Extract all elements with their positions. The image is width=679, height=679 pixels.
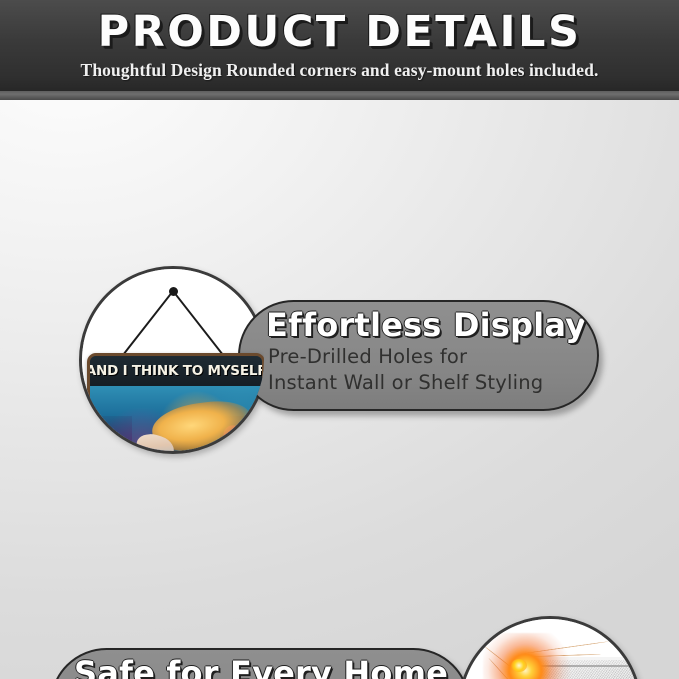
product-details-infographic: PRODUCT DETAILS Thoughtful Design Rounde… [0, 0, 679, 679]
tin-sign-illustration: AND I THINK TO MYSELF [82, 269, 264, 451]
header-subtitle: Thoughtful Design Rounded corners and ea… [0, 60, 679, 81]
header-divider [0, 91, 679, 100]
tin-sign-banner: AND I THINK TO MYSELF [90, 356, 262, 388]
tin-sign-underwater-scene [90, 386, 262, 454]
sign-hook-icon [169, 287, 178, 296]
feature-image-hanging-tin-sign: AND I THINK TO MYSELF [79, 266, 267, 454]
coral-left-decoration [90, 416, 132, 454]
tin-sign-plate: AND I THINK TO MYSELF [87, 353, 265, 454]
header-banner: PRODUCT DETAILS Thoughtful Design Rounde… [0, 0, 679, 91]
tin-sign-text: AND I THINK TO MYSELF [87, 363, 265, 379]
feature-row-effortless-display: AND I THINK TO MYSELF Effortless Display… [0, 130, 679, 315]
feature-row-thoughtful-to-gift: Thoughtful to Gift Durable Rustic Tin Si… [0, 478, 679, 668]
page-title: PRODUCT DETAILS [0, 7, 679, 57]
